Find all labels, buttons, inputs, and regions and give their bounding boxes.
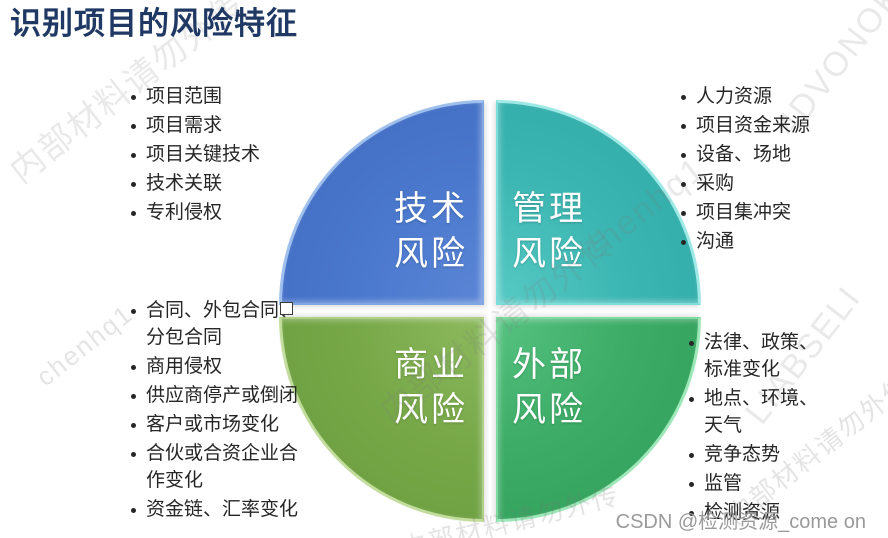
list-item-text: 采购	[696, 173, 734, 194]
list-item: 设备、场地	[680, 142, 885, 169]
list-item-text: 竞争态势	[704, 444, 780, 465]
list-item-text: 沟通	[696, 231, 734, 252]
list-item: 人力资源	[680, 84, 885, 111]
list-item-text: 人力资源	[696, 86, 772, 107]
list-external-risks: 法律、政策、 标准变化 地点、环境、 天气 竞争态势 监管 检测资源	[688, 330, 888, 529]
slide-canvas: 识别项目的风险特征 内部材料请勿外传 内部材料请勿外传 内部材料请勿外传 4DV…	[0, 0, 888, 538]
list-item: 竞争态势	[688, 442, 888, 469]
list-technical-risks: 项目范围 项目需求 项目关键技术 技术关联 专利侵权	[130, 84, 330, 229]
quadrant-business-label: 商业 风险	[394, 343, 468, 433]
list-item-text: 项目范围	[146, 86, 222, 107]
list-item: 项目需求	[130, 113, 330, 140]
quadrant-label-line1: 技术	[394, 190, 468, 228]
quadrant-external-label: 外部 风险	[512, 343, 586, 433]
list-item: 法律、政策、 标准变化	[688, 330, 888, 384]
list-item-text: 商用侵权	[146, 356, 222, 377]
list-item-text: 项目资金来源	[696, 115, 810, 136]
quadrant-management-label: 管理 风险	[512, 187, 586, 277]
page-title: 识别项目的风险特征	[10, 4, 298, 44]
quadrant-label-line1: 外部	[512, 346, 586, 384]
list-item: 采购	[680, 171, 885, 198]
list-item: 沟通	[680, 229, 885, 256]
risk-quadrant-diagram: 技术 风险 管理 风险 商业 风险 外部 风险	[279, 100, 701, 522]
list-item-text: 项目需求	[146, 115, 222, 136]
list-item-text: 客户或市场变化	[146, 414, 279, 435]
list-item: 资金链、汇率变化	[130, 497, 326, 524]
list-item: 技术关联	[130, 171, 330, 198]
quadrant-external-risk[interactable]: 外部 风险	[496, 317, 701, 522]
list-item-text: 技术关联	[146, 173, 222, 194]
list-item-text: 监管	[704, 473, 742, 494]
list-item: 合伙或合资企业合 作变化	[130, 441, 326, 495]
list-item: 项目集冲突	[680, 200, 885, 227]
list-item-text: 地点、环境、	[704, 388, 818, 409]
quadrant-label-line1: 管理	[512, 190, 586, 228]
quadrant-label-line2: 风险	[394, 235, 468, 273]
list-item-text: 专利侵权	[146, 202, 222, 223]
list-item: 供应商停产或倒闭	[130, 383, 326, 410]
list-item: 地点、环境、 天气	[688, 386, 888, 440]
list-item-text-wrap: 分包合同	[146, 325, 326, 352]
list-item-text-wrap: 天气	[704, 413, 888, 440]
list-management-risks: 人力资源 项目资金来源 设备、场地 采购 项目集冲突 沟通	[680, 84, 885, 258]
quadrant-label-line2: 风险	[512, 235, 586, 273]
list-item: 客户或市场变化	[130, 412, 326, 439]
quadrant-technical-label: 技术 风险	[394, 187, 468, 277]
csdn-credit: CSDN @检测资源_come on	[616, 505, 866, 534]
watermark-text: chenhq1	[31, 298, 140, 392]
list-item: 专利侵权	[130, 200, 330, 227]
list-item-text-wrap: 作变化	[146, 468, 326, 495]
quadrant-management-risk[interactable]: 管理 风险	[496, 100, 701, 305]
list-item: 监管	[688, 471, 888, 498]
list-item-text: 项目集冲突	[696, 202, 791, 223]
list-item-text: 合伙或合资企业合	[146, 443, 298, 464]
list-item-text: 项目关键技术	[146, 144, 260, 165]
list-business-risks: 合同、外包合同、 分包合同 商用侵权 供应商停产或倒闭 客户或市场变化 合伙或合…	[130, 298, 326, 526]
quadrant-label-line2: 风险	[512, 391, 586, 429]
list-item-text: 合同、外包合同、	[146, 300, 298, 321]
list-item: 合同、外包合同、 分包合同	[130, 298, 326, 352]
list-item-text: 设备、场地	[696, 144, 791, 165]
quadrant-label-line1: 商业	[394, 346, 468, 384]
list-item-text: 供应商停产或倒闭	[146, 385, 298, 406]
list-item: 项目范围	[130, 84, 330, 111]
selection-handle[interactable]	[280, 302, 293, 315]
list-item-text: 资金链、汇率变化	[146, 499, 298, 520]
list-item: 项目资金来源	[680, 113, 885, 140]
quadrant-label-line2: 风险	[394, 391, 468, 429]
list-item: 项目关键技术	[130, 142, 330, 169]
list-item: 商用侵权	[130, 354, 326, 381]
list-item-text-wrap: 标准变化	[704, 357, 888, 384]
list-item-text: 法律、政策、	[704, 332, 818, 353]
